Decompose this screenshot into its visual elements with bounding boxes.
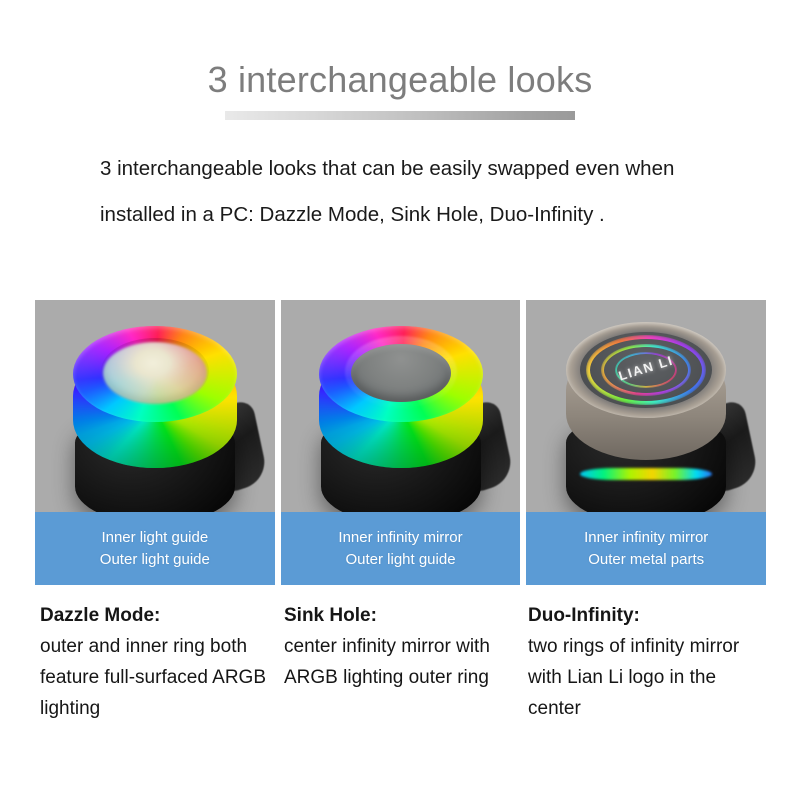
description-body: center infinity mirror with ARGB lightin…: [284, 631, 522, 693]
inner-light-guide-disc: [103, 342, 207, 404]
photo-caption-bar-duo-infinity: Inner infinity mirror Outer metal parts: [526, 512, 766, 585]
product-card-dazzle-mode[interactable]: Inner light guide Outer light guide: [35, 300, 275, 585]
pump-head-illustration: [67, 318, 243, 518]
page-title: 3 interchangeable looks: [0, 58, 800, 101]
product-descriptions-row: Dazzle Mode: outer and inner ring both f…: [40, 600, 766, 724]
page-header: 3 interchangeable looks: [0, 0, 800, 120]
product-cards-row: Inner light guide Outer light guide Inne…: [35, 300, 766, 585]
caption-line-2: Outer metal parts: [588, 549, 704, 571]
caption-line-2: Outer light guide: [100, 549, 210, 571]
photo-caption-bar-sink-hole: Inner infinity mirror Outer light guide: [281, 512, 521, 585]
inner-infinity-mirror-disc: [351, 344, 451, 402]
description-dazzle-mode: Dazzle Mode: outer and inner ring both f…: [40, 600, 278, 724]
caption-line-1: Inner infinity mirror: [338, 527, 462, 549]
description-sink-hole: Sink Hole: center infinity mirror with A…: [284, 600, 522, 724]
base-argb-strip: [580, 468, 712, 480]
intro-paragraph: 3 interchangeable looks that can be easi…: [0, 146, 800, 238]
description-title: Sink Hole:: [284, 600, 522, 631]
caption-line-2: Outer light guide: [345, 549, 455, 571]
infinity-mirror-glass: LIAN LI: [580, 332, 712, 408]
product-card-sink-hole[interactable]: Inner infinity mirror Outer light guide: [281, 300, 521, 585]
photo-caption-bar-dazzle-mode: Inner light guide Outer light guide: [35, 512, 275, 585]
caption-line-1: Inner infinity mirror: [584, 527, 708, 549]
product-card-duo-infinity[interactable]: LIAN LI Inner infinity mirror Outer meta…: [526, 300, 766, 585]
description-body: outer and inner ring both feature full-s…: [40, 631, 278, 724]
description-duo-infinity: Duo-Infinity: two rings of infinity mirr…: [528, 600, 766, 724]
caption-line-1: Inner light guide: [101, 527, 208, 549]
pump-head-illustration: [313, 318, 489, 518]
description-body: two rings of infinity mirror with Lian L…: [528, 631, 766, 724]
description-title: Duo-Infinity:: [528, 600, 766, 631]
description-title: Dazzle Mode:: [40, 600, 278, 631]
pump-head-illustration: LIAN LI: [558, 318, 734, 518]
title-underline-divider: [225, 111, 575, 120]
